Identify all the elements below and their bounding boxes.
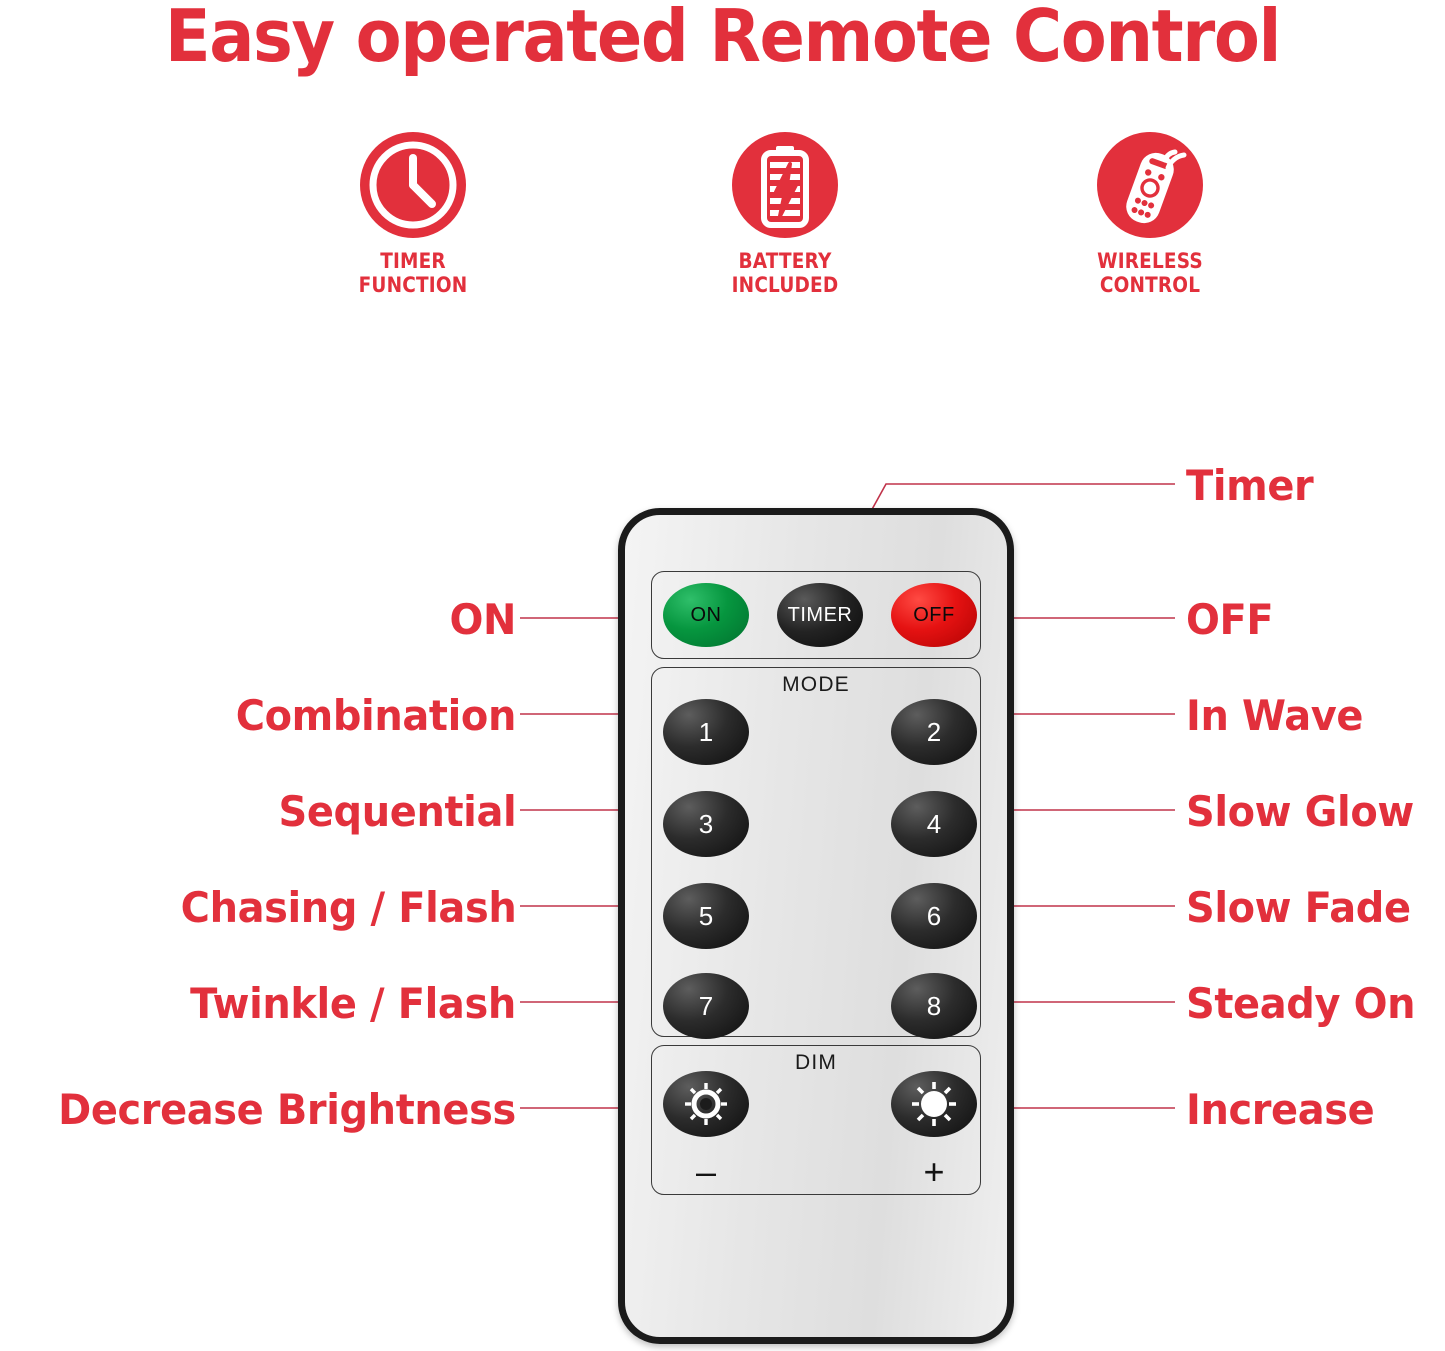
mode-button-4[interactable]: 4	[891, 791, 977, 857]
clock-icon	[360, 132, 466, 238]
mode-section-label: MODE	[651, 673, 981, 697]
feature-battery-label: BATTERY INCLUDED	[675, 250, 895, 297]
dim-plus-symbol: +	[891, 1151, 977, 1193]
feature-wireless: WIRELESS CONTROL	[1025, 132, 1275, 297]
feature-timer: TIMER FUNCTION	[288, 132, 538, 297]
infographic-page: Easy operated Remote Control TIMER FUNCT…	[0, 0, 1445, 1351]
callout-in-wave: In Wave	[1186, 691, 1363, 740]
callout-decrease-brightness: Decrease Brightness	[58, 1085, 516, 1134]
callout-sequential: Sequential	[278, 787, 516, 836]
brightness-low-icon[interactable]	[663, 1071, 749, 1137]
callout-increase: Increase	[1186, 1085, 1374, 1134]
callout-twinkle-flash: Twinkle / Flash	[190, 979, 516, 1028]
mode-button-2[interactable]: 2	[891, 699, 977, 765]
callout-timer: Timer	[1186, 461, 1313, 510]
battery-icon	[732, 132, 838, 238]
callout-on: ON	[449, 595, 516, 644]
page-title: Easy operated Remote Control	[51, 0, 1395, 78]
callout-slow-fade: Slow Fade	[1186, 883, 1411, 932]
feature-timer-line1: TIMER	[303, 250, 523, 274]
feature-battery-line1: BATTERY	[675, 250, 895, 274]
feature-timer-line2: FUNCTION	[303, 274, 523, 298]
mode-button-5[interactable]: 5	[663, 883, 749, 949]
feature-battery: BATTERY INCLUDED	[660, 132, 910, 297]
off-button[interactable]: OFF	[891, 583, 977, 647]
remote-control: MODE DIM ON TIMER OFF 1 2 3 4 5 6 7 8	[618, 508, 1014, 1344]
callout-chasing-flash: Chasing / Flash	[180, 883, 516, 932]
brightness-high-icon[interactable]	[891, 1071, 977, 1137]
feature-battery-line2: INCLUDED	[675, 274, 895, 298]
mode-button-3[interactable]: 3	[663, 791, 749, 857]
remote-icon	[1097, 132, 1203, 238]
callout-steady-on: Steady On	[1186, 979, 1415, 1028]
feature-timer-label: TIMER FUNCTION	[303, 250, 523, 297]
feature-badges: TIMER FUNCTION	[0, 132, 1445, 312]
feature-wireless-label: WIRELESS CONTROL	[1040, 250, 1260, 297]
feature-wireless-line2: CONTROL	[1040, 274, 1260, 298]
dim-minus-symbol: –	[663, 1151, 749, 1193]
timer-button[interactable]: TIMER	[777, 583, 863, 647]
mode-button-6[interactable]: 6	[891, 883, 977, 949]
callout-slow-glow: Slow Glow	[1186, 787, 1414, 836]
mode-button-1[interactable]: 1	[663, 699, 749, 765]
mode-button-7[interactable]: 7	[663, 973, 749, 1039]
callout-off: OFF	[1186, 595, 1273, 644]
feature-wireless-line1: WIRELESS	[1040, 250, 1260, 274]
mode-button-8[interactable]: 8	[891, 973, 977, 1039]
callout-combination: Combination	[236, 691, 516, 740]
on-button[interactable]: ON	[663, 583, 749, 647]
